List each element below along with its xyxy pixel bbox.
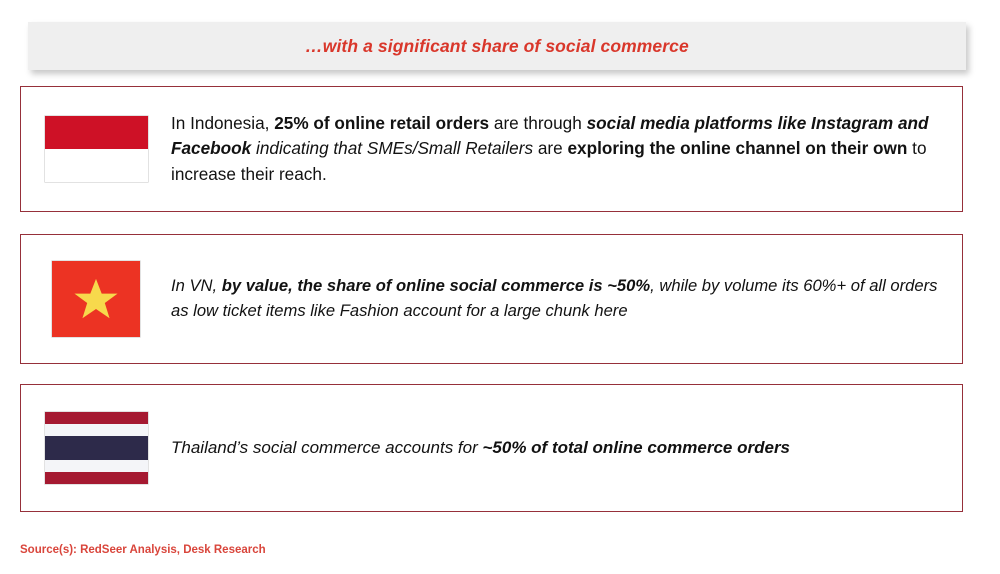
thailand-stripe-red-top — [45, 412, 148, 424]
text-run: are through — [489, 113, 586, 133]
thailand-flag-icon — [45, 412, 148, 484]
thailand-stripe-white-upper — [45, 424, 148, 436]
header-banner: …with a significant share of social comm… — [28, 22, 966, 70]
text-run: are — [533, 138, 567, 158]
text-cell: In VN, by value, the share of online soc… — [171, 274, 962, 324]
vietnam-star-icon — [73, 277, 119, 321]
indonesia-statement: In Indonesia, 25% of online retail order… — [171, 111, 940, 187]
country-card-thailand: Thailand’s social commerce accounts for … — [20, 384, 963, 512]
text-run: ~50% of total online commerce orders — [483, 438, 791, 457]
text-run: In VN, — [171, 276, 222, 295]
country-card-vietnam: In VN, by value, the share of online soc… — [20, 234, 963, 364]
indonesia-flag-icon — [45, 116, 148, 182]
indonesia-flag-red-band — [45, 116, 148, 149]
thailand-stripe-white-lower — [45, 460, 148, 472]
source-note: Source(s): RedSeer Analysis, Desk Resear… — [20, 544, 266, 556]
text-run: exploring the online channel on their ow… — [567, 138, 907, 158]
flag-cell — [21, 261, 171, 337]
thailand-stripe-navy — [45, 436, 148, 460]
text-run: Thailand’s social commerce accounts for — [171, 438, 483, 457]
text-run: SMEs/Small Retailers — [367, 138, 533, 158]
vietnam-statement: In VN, by value, the share of online soc… — [171, 274, 940, 324]
text-run: 25% of online retail orders — [274, 113, 489, 133]
flag-cell — [21, 116, 171, 182]
thailand-statement: Thailand’s social commerce accounts for … — [171, 435, 940, 460]
page-title: …with a significant share of social comm… — [305, 36, 689, 57]
flag-cell — [21, 412, 171, 484]
text-run: indicating that — [251, 138, 367, 158]
text-cell: In Indonesia, 25% of online retail order… — [171, 111, 962, 187]
text-run: by value, the share of online social com… — [222, 276, 650, 295]
thailand-stripe-red-bottom — [45, 472, 148, 484]
text-run: In Indonesia, — [171, 113, 274, 133]
vietnam-flag-icon — [52, 261, 140, 337]
country-card-indonesia: In Indonesia, 25% of online retail order… — [20, 86, 963, 212]
text-cell: Thailand’s social commerce accounts for … — [171, 435, 962, 460]
